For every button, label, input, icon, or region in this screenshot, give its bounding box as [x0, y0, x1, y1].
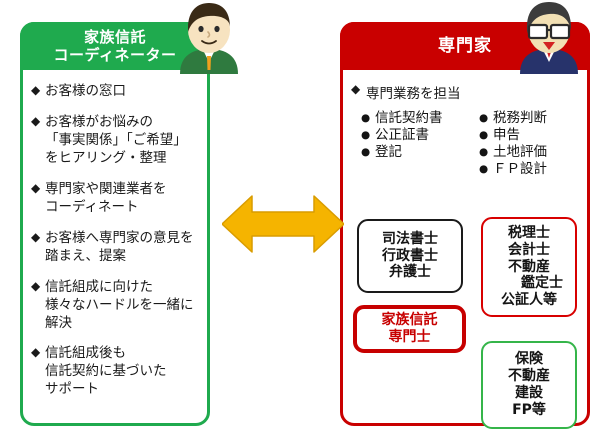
- tax-line-2: 会計士: [508, 242, 550, 259]
- legal-line-3: 弁護士: [389, 264, 431, 281]
- tax-line-1: 税理士: [508, 225, 550, 242]
- coordinator-bullet-list: お客様の窓口 お客様がお悩みの 「事実関係」「ご希望」 をヒアリング・整理 専門…: [23, 73, 207, 399]
- list-item: 土地評価: [479, 144, 583, 161]
- legal-line-1: 司法書士: [382, 231, 438, 248]
- list-item: お客様へ専門家の意見を 踏まえ、提案: [31, 230, 201, 266]
- list-item: 信託契約書: [361, 110, 465, 127]
- insurance-line-1: 保険: [515, 351, 543, 368]
- insurance-and-realestate-box: 保険 不動産 建設 FP等: [481, 341, 577, 429]
- duties-column-left: 信託契約書 公正証書 登記: [361, 110, 465, 178]
- list-item: 申告: [479, 127, 583, 144]
- coordinator-title-line2: コーディネーター: [54, 46, 177, 64]
- bidirectional-arrow-icon: [222, 192, 344, 256]
- coordinator-title-line1: 家族信託: [54, 28, 177, 46]
- list-item: 信託組成後も 信託契約に基づいた サポート: [31, 345, 201, 399]
- expert-panel-body: 専門業務を担当 信託契約書 公正証書 登記 税務判断 申告 土地評価 ＦＰ設計 …: [343, 73, 587, 423]
- family-trust-line-1: 家族信託: [382, 312, 438, 329]
- tax-line-5: 公証人等: [501, 292, 557, 309]
- expert-avatar-icon: [512, 0, 586, 74]
- insurance-line-2: 不動産: [508, 368, 550, 385]
- expert-panel: 専門家 専門業務を担当 信託契約書 公正証書 登記 税務判断 申告 土地評価 Ｆ…: [340, 22, 590, 426]
- list-item: 専門家や関連業者を コーディネート: [31, 181, 201, 217]
- tax-line-3: 不動産: [508, 259, 550, 276]
- insurance-line-4: FP等: [512, 402, 546, 419]
- coordinator-avatar-icon: [172, 0, 246, 74]
- list-item: お客様がお悩みの 「事実関係」「ご希望」 をヒアリング・整理: [31, 114, 201, 168]
- family-trust-specialist-box: 家族信託 専門士: [353, 305, 466, 353]
- expert-duties: 信託契約書 公正証書 登記 税務判断 申告 土地評価 ＦＰ設計: [361, 110, 587, 178]
- list-item: 公正証書: [361, 127, 465, 144]
- tax-line-4: 鑑定士: [495, 275, 563, 292]
- list-item: 税務判断: [479, 110, 583, 127]
- legal-professionals-box: 司法書士 行政書士 弁護士: [357, 219, 463, 293]
- list-item: 信託組成に向けた 様々なハードルを一緒に 解決: [31, 279, 201, 333]
- coordinator-panel-body: お客様の窓口 お客様がお悩みの 「事実関係」「ご希望」 をヒアリング・整理 専門…: [23, 73, 207, 423]
- list-item: お客様の窓口: [31, 83, 201, 101]
- insurance-line-3: 建設: [515, 385, 543, 402]
- legal-line-2: 行政書士: [382, 248, 438, 265]
- list-item: ＦＰ設計: [479, 161, 583, 178]
- expert-role-boxes: 司法書士 行政書士 弁護士 家族信託 専門士 税理士 会計士 不動産 鑑定士 公…: [343, 213, 587, 423]
- coordinator-panel: 家族信託 コーディネーター お客様の窓口 お客様がお悩みの 「事実関係」「ご希望…: [20, 22, 210, 426]
- family-trust-line-2: 専門士: [389, 329, 431, 346]
- tax-and-appraisal-box: 税理士 会計士 不動産 鑑定士 公証人等: [481, 217, 577, 317]
- expert-heading: 専門業務を担当: [351, 82, 587, 102]
- duties-column-right: 税務判断 申告 土地評価 ＦＰ設計: [479, 110, 583, 178]
- list-item: 登記: [361, 144, 465, 161]
- expert-title: 専門家: [438, 36, 492, 57]
